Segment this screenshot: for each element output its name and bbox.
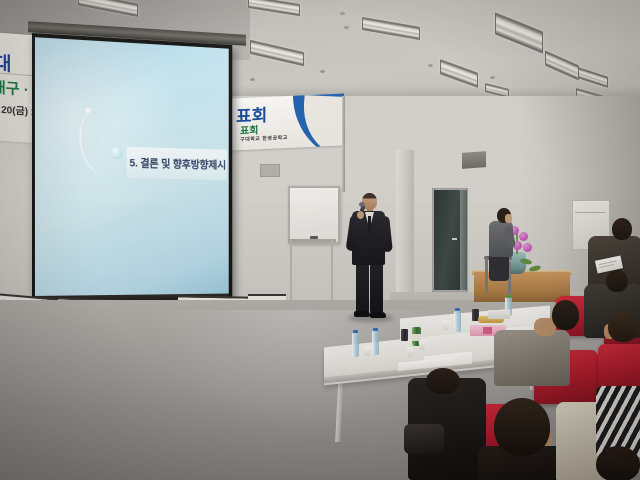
photo-scene: 대 대구 · 1. 20(금) 1 표회 표회 구대학교 한영공학교 5. 결론…: [0, 0, 640, 480]
slide-title-bar: 5. 결론 및 향후방향제시: [127, 146, 227, 179]
presenter-hand: [357, 211, 364, 219]
presenter-shoe-left: [354, 311, 370, 317]
water-bottle: [352, 333, 359, 357]
banner-pole: [342, 96, 345, 192]
banner-footer: 구대학교 한영공학교: [240, 134, 288, 143]
orchid-flower-icon: [519, 232, 528, 241]
booklet-text-line: [599, 264, 614, 268]
cabinet-seam: [575, 212, 605, 213]
gift-box-label-icon: [483, 327, 492, 334]
audience-member-head: [596, 446, 640, 480]
bottle-cap-icon: [506, 295, 511, 298]
presenter-necktie: [368, 216, 371, 233]
bottle-cap-icon: [373, 328, 378, 331]
presenter-leg-right: [370, 262, 383, 314]
presenter-leg-left: [356, 262, 369, 314]
door-leaf[interactable]: [460, 190, 467, 290]
slide-dot-small-icon: [85, 107, 91, 113]
slide-arc-graphic: [75, 105, 127, 176]
sprinkler-icon: [490, 76, 495, 79]
left-banner-line2: 대구 ·: [0, 76, 29, 100]
audience-member-head: [606, 270, 628, 292]
microphone-head-icon: [359, 202, 365, 207]
orchid-flower-icon: [523, 243, 532, 252]
sprinkler-icon: [250, 78, 255, 81]
banner-swoosh-inner: [299, 95, 344, 150]
sprinkler-icon: [340, 12, 345, 15]
sprinkler-icon: [320, 70, 325, 73]
water-bottle: [372, 331, 379, 355]
audience-member-head: [426, 368, 460, 394]
event-banner: 표회 표회 구대학교 한영공학교: [232, 94, 344, 151]
audience-member-head: [494, 398, 550, 456]
sprinkler-icon: [344, 26, 349, 29]
bottle-label: [412, 334, 421, 341]
seated-person-legs: [489, 255, 509, 281]
whiteboard-leg: [331, 240, 333, 308]
projection-screen: 5. 결론 및 향후방향제시: [32, 33, 232, 307]
water-bottle: [454, 311, 461, 332]
chair-leg: [485, 258, 488, 294]
whiteboard-tray: [288, 239, 336, 242]
slide-dot-icon: [111, 146, 123, 159]
left-banner-line3: 1. 20(금) 1: [0, 100, 36, 118]
audience-member-body: [494, 330, 570, 386]
slide-title: 5. 결론 및 향후방향제시: [127, 154, 226, 172]
whiteboard-marker-icon: [310, 236, 318, 239]
sprinkler-icon: [428, 64, 433, 67]
audience-member-head: [608, 312, 638, 342]
door-handle-icon[interactable]: [452, 238, 457, 240]
bottle-cap-icon: [455, 308, 460, 311]
wall-vent-icon: [260, 164, 280, 177]
floor-bag: [404, 424, 444, 454]
beverage-can: [401, 329, 408, 341]
bottle-cap-icon: [353, 330, 358, 333]
projected-slide: 5. 결론 및 향후방향제시: [35, 37, 229, 297]
audience-member-head: [612, 218, 632, 240]
open-doorway[interactable]: [434, 190, 460, 290]
serving-tray: [488, 310, 510, 319]
wall-speaker-icon: [462, 151, 486, 169]
presenter-shoe-right: [370, 312, 386, 318]
whiteboard-leg: [290, 240, 292, 308]
wall-column: [396, 150, 414, 310]
seated-person-face: [505, 214, 512, 223]
audience-member-head: [552, 300, 579, 330]
